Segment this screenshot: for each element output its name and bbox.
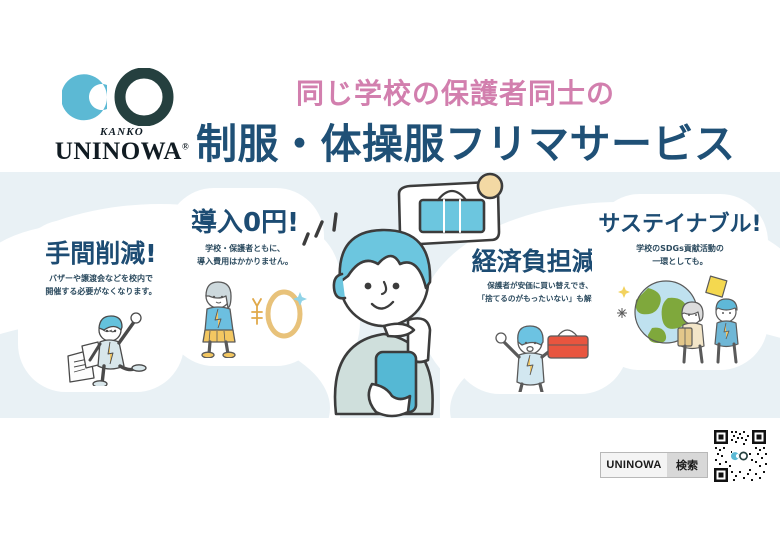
registered-mark: ® [182,142,189,152]
page-title: 制服・体操服フリマサービス [196,110,736,170]
qr-code-uninowa[interactable] [712,428,768,484]
logo-wordmark-text: UNINOWA [55,138,182,165]
student-with-yen-zero-illustration [188,276,308,358]
feature-desc-line2: 導入費用はかかりません。 [197,257,293,266]
banner-canvas: KANKO UNINOWA® 同じ学校の保護者同士の 制服・体操服フリマサービス… [0,0,780,540]
cheering-person-with-papers-illustration [64,306,154,386]
feature-desc-line1: 学校のSDGs貢献活動の [636,244,724,253]
feature-card-sustainable[interactable]: サステイナブル! 学校のSDGs貢献活動の 一環としても。 [592,194,768,370]
search-input[interactable]: UNINOWA [601,453,667,477]
feature-title: 手間削減! [18,234,184,270]
feature-description: 学校のSDGs貢献活動の 一環としても。 [592,242,768,268]
logo-wordmark: UNINOWA® [52,138,192,166]
co-monogram-icon [62,68,182,126]
search-widget[interactable]: UNINOWA 検索 [600,452,708,478]
feature-title: サステイナブル! [592,206,768,238]
feature-desc-line1: バザーや譲渡会などを校内で [49,274,153,283]
brand-logo: KANKO UNINOWA® [52,68,192,166]
feature-card-tema-sakugen[interactable]: 手間削減! バザーや譲渡会などを校内で 開催する必要がなくなります。 [18,220,184,392]
kicker-text: 同じ学校の保護者同士の [296,72,615,112]
logo-kanko-text: KANKO [52,126,192,138]
feature-desc-line2: 開催する必要がなくなります。 [45,287,156,296]
feature-desc-line1: 学校・保護者ともに、 [205,244,285,253]
search-button[interactable]: 検索 [667,453,707,477]
hero-illustration [292,170,522,420]
feature-panel: 手間削減! バザーや譲渡会などを校内で 開催する必要がなくなります。 [0,172,780,418]
feature-desc-line2: 一環としても。 [652,257,707,266]
earth-globe-with-two-people-illustration [606,272,756,364]
feature-description: バザーや譲渡会などを校内で 開催する必要がなくなります。 [18,272,184,298]
